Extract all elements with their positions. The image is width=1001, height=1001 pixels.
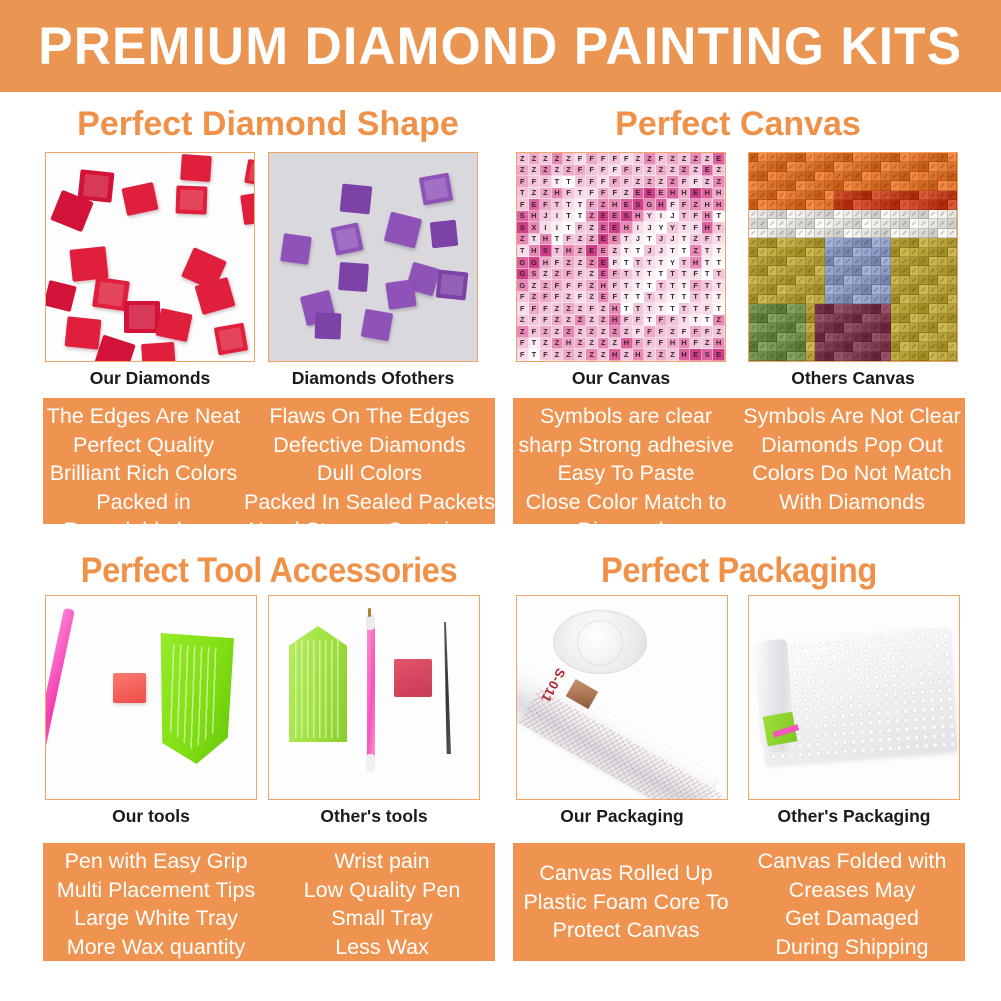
caption-our-packaging: Our Packaging — [516, 808, 728, 826]
canvas-symbol-cell: I — [552, 211, 564, 223]
info-line: Canvas Rolled Up — [539, 859, 712, 888]
muddy-canvas-cell — [919, 342, 928, 351]
canvas-symbol-cell: Z — [529, 165, 541, 177]
muddy-canvas-cell — [834, 219, 843, 228]
info-col-others-tools: Wrist painLow Quality PenSmall TrayLess … — [269, 843, 495, 961]
photo-our-canvas: ZZZZZFFFFFZZFZZZZEZZZZZFFFFFFZZZZZEZFFFT… — [516, 152, 726, 362]
red-diamond-drill — [45, 280, 77, 312]
muddy-canvas-cell — [919, 219, 928, 228]
muddy-canvas-cell — [862, 238, 871, 247]
muddy-canvas-cell — [900, 200, 909, 209]
canvas-symbol-cell: Z — [690, 199, 702, 211]
muddy-canvas-cell — [910, 200, 919, 209]
muddy-canvas-cell — [862, 162, 871, 171]
canvas-symbol-cell: T — [679, 211, 691, 223]
muddy-canvas-cell — [815, 162, 824, 171]
canvas-symbol-cell: E — [621, 199, 633, 211]
muddy-canvas-cell — [872, 276, 881, 285]
canvas-symbol-cell: S — [702, 349, 714, 361]
canvas-symbol-cell: T — [713, 245, 725, 257]
muddy-canvas-cell — [919, 314, 928, 323]
canvas-symbol-cell: T — [667, 292, 679, 304]
purple-diamond-drill — [385, 279, 416, 310]
muddy-canvas-cell — [749, 333, 758, 342]
gem-facet — [335, 227, 359, 251]
canvas-symbol-cell: F — [702, 234, 714, 246]
muddy-canvas-cell — [834, 153, 843, 162]
canvas-symbol-cell: H — [529, 245, 541, 257]
muddy-canvas-cell — [777, 352, 786, 361]
canvas-symbol-cell: Z — [575, 245, 587, 257]
canvas-symbol-cell: Z — [713, 326, 725, 338]
canvas-symbol-cell: T — [702, 257, 714, 269]
muddy-canvas-cell — [862, 333, 871, 342]
canvas-symbol-cell: Z — [690, 165, 702, 177]
gem-facet — [248, 163, 255, 183]
muddy-canvas-cell — [777, 172, 786, 181]
muddy-canvas-cell — [787, 191, 796, 200]
muddy-canvas-cell — [919, 323, 928, 332]
canvas-symbol-cell: F — [609, 153, 621, 165]
muddy-canvas-cell — [891, 191, 900, 200]
muddy-canvas-cell — [749, 257, 758, 266]
gem-facet — [424, 177, 449, 201]
muddy-canvas-cell — [787, 248, 796, 257]
canvas-symbol-cell: F — [609, 257, 621, 269]
muddy-canvas-cell — [938, 210, 947, 219]
canvas-symbol-cell: F — [621, 176, 633, 188]
muddy-canvas-cell — [834, 229, 843, 238]
muddy-canvas-cell — [749, 295, 758, 304]
muddy-canvas-cell — [768, 266, 777, 275]
muddy-canvas-cell — [844, 191, 853, 200]
muddy-canvas-cell — [777, 248, 786, 257]
muddy-canvas-cell — [862, 276, 871, 285]
muddy-canvas-cell — [881, 248, 890, 257]
muddy-canvas-cell — [768, 172, 777, 181]
canvas-symbol-cell: F — [667, 199, 679, 211]
canvas-symbol-cell: H — [529, 211, 541, 223]
muddy-canvas-cell — [768, 304, 777, 313]
canvas-symbol-cell: F — [690, 269, 702, 281]
canvas-symbol-cell: T — [713, 211, 725, 223]
muddy-canvas-cell — [806, 333, 815, 342]
muddy-canvas-cell — [862, 266, 871, 275]
muddy-canvas-cell — [853, 229, 862, 238]
canvas-symbol-cell: T — [656, 280, 668, 292]
muddy-canvas-cell — [806, 191, 815, 200]
muddy-canvas-cell — [787, 219, 796, 228]
canvas-symbol-cell: F — [621, 315, 633, 327]
canvas-symbol-cell: F — [563, 188, 575, 200]
muddy-canvas-cell — [787, 266, 796, 275]
muddy-canvas-cell — [758, 276, 767, 285]
muddy-canvas-cell — [844, 323, 853, 332]
muddy-canvas-cell — [910, 191, 919, 200]
canvas-symbol-cell: H — [609, 199, 621, 211]
canvas-symbol-cell: F — [552, 280, 564, 292]
muddy-canvas-cell — [910, 153, 919, 162]
muddy-canvas-cell — [796, 257, 805, 266]
info-line: With Diamonds — [779, 488, 925, 517]
canvas-symbol-cell: Z — [552, 303, 564, 315]
canvas-symbol-cell: J — [644, 222, 656, 234]
muddy-canvas-cell — [749, 191, 758, 200]
muddy-canvas-cell — [891, 238, 900, 247]
canvas-symbol-cell: T — [679, 245, 691, 257]
muddy-canvas-cell — [862, 210, 871, 219]
muddy-canvas-cell — [881, 257, 890, 266]
purple-diamond-drill — [361, 309, 393, 341]
canvas-symbol-cell: F — [690, 338, 702, 350]
muddy-canvas-cell — [891, 314, 900, 323]
muddy-canvas-cell — [900, 153, 909, 162]
canvas-symbol-cell: Z — [563, 257, 575, 269]
photo-others-diamonds — [268, 152, 478, 362]
muddy-canvas-cell — [872, 153, 881, 162]
canvas-symbol-cell: H — [713, 338, 725, 350]
muddy-canvas-cell — [881, 210, 890, 219]
canvas-symbol-cell: E — [702, 165, 714, 177]
muddy-canvas-cell — [796, 162, 805, 171]
muddy-canvas-cell — [853, 266, 862, 275]
muddy-canvas-cell — [910, 219, 919, 228]
canvas-symbol-cell: F — [644, 338, 656, 350]
canvas-symbol-cell: Z — [563, 303, 575, 315]
canvas-symbol-cell: H — [633, 211, 645, 223]
muddy-canvas-cell — [910, 276, 919, 285]
info-line: Easy To Paste — [557, 459, 694, 488]
canvas-symbol-cell: T — [713, 234, 725, 246]
info-line: Brilliant Rich Colors — [50, 459, 238, 488]
red-diamond-drill — [141, 342, 176, 362]
canvas-symbol-cell: T — [633, 257, 645, 269]
canvas-symbol-cell: X — [529, 222, 541, 234]
canvas-symbol-cell: F — [540, 315, 552, 327]
canvas-symbol-cell: T — [702, 245, 714, 257]
canvas-symbol-cell: F — [598, 153, 610, 165]
canvas-symbol-cell: Z — [702, 338, 714, 350]
muddy-canvas-cell — [815, 153, 824, 162]
canvas-symbol-cell: S — [529, 269, 541, 281]
other-wax-square-icon — [394, 659, 432, 697]
info-line: Canvas Folded with — [758, 847, 947, 876]
canvas-symbol-cell: F — [702, 326, 714, 338]
muddy-canvas-cell — [806, 162, 815, 171]
photo-other-packaging — [748, 595, 960, 800]
muddy-canvas-cell — [881, 323, 890, 332]
muddy-canvas-cell — [749, 229, 758, 238]
muddy-canvas-cell — [881, 333, 890, 342]
muddy-canvas-cell — [834, 342, 843, 351]
info-line: More Wax quantity — [67, 933, 245, 962]
canvas-symbol-cell: Z — [713, 165, 725, 177]
muddy-canvas-cell — [768, 285, 777, 294]
canvas-symbol-cell: J — [667, 211, 679, 223]
canvas-symbol-cell: H — [563, 338, 575, 350]
muddy-canvas-cell — [749, 219, 758, 228]
muddy-canvas-cell — [881, 200, 890, 209]
muddy-canvas-cell — [834, 248, 843, 257]
muddy-canvas-cell — [815, 276, 824, 285]
muddy-canvas-cell — [806, 323, 815, 332]
other-pen-cap-icon — [366, 754, 375, 772]
gem-facet — [219, 327, 244, 351]
muddy-canvas-cell — [900, 229, 909, 238]
muddy-canvas-cell — [825, 342, 834, 351]
muddy-canvas-cell — [834, 352, 843, 361]
canvas-symbol-cell: Z — [540, 165, 552, 177]
muddy-canvas-cell — [834, 238, 843, 247]
canvas-symbol-cell: F — [621, 153, 633, 165]
muddy-canvas-cell — [844, 162, 853, 171]
canvas-symbol-cell: F — [586, 153, 598, 165]
muddy-canvas-cell — [777, 257, 786, 266]
muddy-canvas-cell — [758, 219, 767, 228]
muddy-canvas-cell — [749, 352, 758, 361]
info-line: Wrist pain — [334, 847, 429, 876]
info-line: Close Color Match to — [526, 488, 727, 517]
info-line: Diamonds Pop Out — [761, 431, 943, 460]
muddy-canvas-cell — [796, 352, 805, 361]
info-line: Get Damaged — [785, 904, 919, 933]
canvas-symbol-cell: Z — [598, 303, 610, 315]
muddy-canvas-cell — [844, 257, 853, 266]
canvas-symbol-cell: T — [563, 222, 575, 234]
canvas-symbol-cell: Z — [517, 165, 529, 177]
muddy-canvas-cell — [787, 210, 796, 219]
muddy-canvas-cell — [881, 285, 890, 294]
photo-our-tools — [45, 595, 257, 800]
muddy-canvas-cell — [919, 352, 928, 361]
muddy-canvas-cell — [796, 266, 805, 275]
canvas-symbol-cell: Y — [667, 257, 679, 269]
canvas-symbol-cell: F — [609, 292, 621, 304]
canvas-symbol-cell: H — [609, 315, 621, 327]
canvas-symbol-cell: Z — [517, 234, 529, 246]
canvas-symbol-cell: T — [517, 188, 529, 200]
muddy-canvas-cell — [815, 295, 824, 304]
canvas-symbol-cell: Z — [644, 176, 656, 188]
muddy-canvas-cell — [787, 276, 796, 285]
muddy-canvas-cell — [787, 352, 796, 361]
muddy-canvas-cell — [919, 266, 928, 275]
muddy-canvas-cell — [948, 162, 957, 171]
canvas-symbol-cell: T — [552, 234, 564, 246]
canvas-symbol-cell: G — [517, 269, 529, 281]
muddy-canvas-cell — [806, 238, 815, 247]
muddy-canvas-cell — [948, 219, 957, 228]
muddy-canvas-cell — [834, 295, 843, 304]
red-diamond-drill — [176, 185, 208, 214]
canvas-symbol-cell: Z — [540, 338, 552, 350]
section-heading-packaging: Perfect Packaging — [529, 553, 949, 588]
canvas-symbol-cell: F — [586, 199, 598, 211]
muddy-canvas-cell — [948, 276, 957, 285]
canvas-symbol-cell: T — [621, 269, 633, 281]
canvas-symbol-cell: Z — [644, 165, 656, 177]
muddy-canvas-cell — [910, 352, 919, 361]
canvas-symbol-cell: E — [529, 199, 541, 211]
muddy-canvas-cell — [777, 276, 786, 285]
muddy-canvas-cell — [749, 323, 758, 332]
canvas-symbol-cell: T — [667, 245, 679, 257]
canvas-symbol-cell: T — [633, 245, 645, 257]
canvas-symbol-cell: T — [575, 199, 587, 211]
muddy-canvas-cell — [891, 333, 900, 342]
photo-others-canvas — [748, 152, 958, 362]
muddy-canvas-cell — [777, 210, 786, 219]
canvas-symbol-cell: H — [609, 349, 621, 361]
muddy-canvas-cell — [768, 314, 777, 323]
canvas-symbol-cell: F — [690, 326, 702, 338]
muddy-canvas-cell — [844, 276, 853, 285]
muddy-canvas-cell — [825, 285, 834, 294]
canvas-symbol-cell: H — [690, 257, 702, 269]
canvas-symbol-cell: Z — [621, 349, 633, 361]
canvas-symbol-cell: S — [621, 211, 633, 223]
muddy-canvas-cell — [881, 266, 890, 275]
muddy-canvas-cell — [900, 323, 909, 332]
canvas-symbol-cell: Z — [586, 269, 598, 281]
muddy-canvas-cell — [758, 257, 767, 266]
photo-our-diamonds — [45, 152, 255, 362]
muddy-canvas-cell — [768, 210, 777, 219]
info-line: Symbols are clear — [540, 402, 712, 431]
canvas-symbol-cell: T — [552, 176, 564, 188]
muddy-canvas-cell — [844, 219, 853, 228]
canvas-symbol-cell: H — [656, 199, 668, 211]
canvas-symbol-cell: F — [575, 222, 587, 234]
canvas-symbol-cell: J — [540, 211, 552, 223]
muddy-canvas-cell — [881, 276, 890, 285]
info-line: The Edges Are Neat — [47, 402, 241, 431]
canvas-symbol-cell: Z — [633, 176, 645, 188]
canvas-symbol-cell: E — [713, 153, 725, 165]
muddy-canvas-cell — [844, 200, 853, 209]
muddy-canvas-cell — [768, 162, 777, 171]
red-diamond-drill — [124, 301, 160, 333]
muddy-canvas-cell — [891, 162, 900, 171]
canvas-symbol-cell: H — [609, 303, 621, 315]
small-tray-grooves-icon — [295, 640, 341, 738]
muddy-canvas-cell — [796, 181, 805, 190]
muddy-canvas-cell — [881, 352, 890, 361]
canvas-symbol-cell: F — [517, 176, 529, 188]
muddy-canvas-cell — [834, 276, 843, 285]
canvas-symbol-cell: F — [586, 303, 598, 315]
muddy-canvas-cell — [844, 333, 853, 342]
canvas-symbol-cell: T — [621, 280, 633, 292]
canvas-symbol-cell: T — [713, 303, 725, 315]
purple-diamond-drill — [280, 233, 312, 265]
muddy-canvas-cell — [853, 314, 862, 323]
muddy-canvas-cell — [853, 162, 862, 171]
muddy-canvas-cell — [749, 342, 758, 351]
canvas-symbol-cell: Z — [552, 165, 564, 177]
infographic-page: PREMIUM DIAMOND PAINTING KITS Perfect Di… — [0, 0, 1001, 1001]
canvas-symbol-cell: Z — [586, 257, 598, 269]
muddy-canvas-cell — [844, 352, 853, 361]
muddy-canvas-cell — [862, 342, 871, 351]
canvas-symbol-cell: Z — [575, 338, 587, 350]
muddy-canvas-cell — [853, 238, 862, 247]
canvas-symbol-cell: T — [575, 188, 587, 200]
muddy-canvas-cell — [948, 229, 957, 238]
muddy-canvas-cell — [872, 257, 881, 266]
our-tools-scene — [46, 596, 256, 799]
muddy-canvas-cell — [891, 276, 900, 285]
muddy-canvas-cell — [862, 219, 871, 228]
canvas-symbol-cell: T — [529, 349, 541, 361]
muddy-canvas-cell — [815, 210, 824, 219]
muddy-canvas-cell — [815, 323, 824, 332]
muddy-canvas-cell — [844, 285, 853, 294]
canvas-symbol-cell: E — [598, 257, 610, 269]
muddy-canvas-cell — [891, 323, 900, 332]
canvas-symbol-cell: S — [517, 211, 529, 223]
canvas-symbol-cell: F — [563, 280, 575, 292]
canvas-symbol-cell: Z — [586, 211, 598, 223]
muddy-canvas-cell — [919, 153, 928, 162]
canvas-symbol-cell: Z — [586, 222, 598, 234]
photo-our-packaging: S-011 — [516, 595, 728, 800]
canvas-symbol-cell: T — [667, 269, 679, 281]
canvas-symbol-cell: F — [575, 280, 587, 292]
muddy-canvas-cell — [919, 181, 928, 190]
canvas-symbol-cell: T — [644, 315, 656, 327]
muddy-canvas-cell — [806, 219, 815, 228]
muddy-canvas-cell — [938, 285, 947, 294]
canvas-symbol-cell: F — [540, 292, 552, 304]
muddy-canvas-cell — [777, 295, 786, 304]
muddy-canvas-cell — [815, 172, 824, 181]
muddy-canvas-cell — [862, 285, 871, 294]
canvas-symbol-cell: E — [598, 292, 610, 304]
canvas-symbol-cell: H — [552, 188, 564, 200]
muddy-canvas-cell — [834, 191, 843, 200]
muddy-canvas-cell — [768, 295, 777, 304]
canvas-symbol-cell: F — [540, 176, 552, 188]
muddy-canvas-cell — [881, 153, 890, 162]
caption-our-tools: Our tools — [45, 808, 257, 826]
canvas-symbol-cell: Z — [552, 153, 564, 165]
muddy-canvas-cell — [929, 229, 938, 238]
muddy-canvas-cell — [844, 229, 853, 238]
canvas-symbol-cell: F — [656, 326, 668, 338]
muddy-canvas-cell — [825, 172, 834, 181]
red-diamond-drill — [240, 191, 255, 225]
muddy-canvas-cell — [777, 162, 786, 171]
canvas-symbol-cell: T — [702, 269, 714, 281]
muddy-canvas-cell — [948, 153, 957, 162]
muddy-canvas-cell — [900, 257, 909, 266]
canvas-symbol-cell: G — [517, 280, 529, 292]
canvas-symbol-cell: H — [621, 338, 633, 350]
muddy-canvas-cell — [758, 191, 767, 200]
muddy-canvas-cell — [881, 181, 890, 190]
canvas-symbol-cell: F — [679, 176, 691, 188]
info-line: Low Quality Pen — [304, 876, 461, 905]
info-line: sharp Strong adhesive — [518, 431, 733, 460]
muddy-canvas-cell — [929, 342, 938, 351]
canvas-symbol-cell: F — [563, 269, 575, 281]
info-line: Creases May — [789, 876, 916, 905]
purple-diamond-drill — [315, 313, 342, 340]
canvas-symbol-cell: F — [656, 315, 668, 327]
muddy-canvas-cell — [891, 172, 900, 181]
muddy-canvas-cell — [929, 352, 938, 361]
